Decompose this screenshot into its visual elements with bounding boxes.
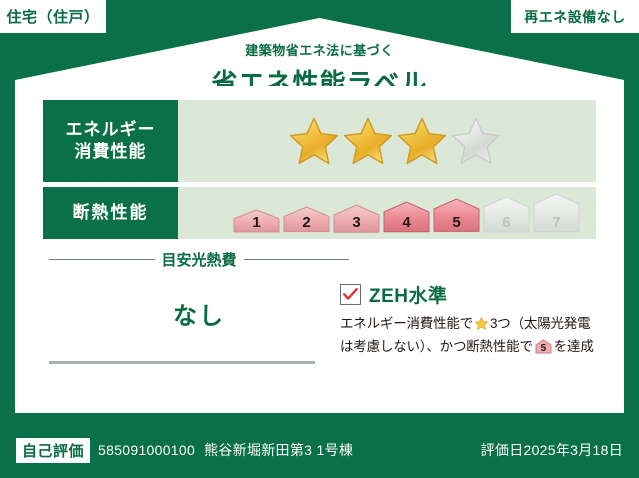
zeh-title: ZEH水準 [369,281,448,308]
building-name: 熊谷新堀新田第3 1号棟 [204,440,353,460]
insulation-level-5: 5 [433,198,480,232]
heading-rule-left [49,259,155,260]
utility-cost-heading-text: 目安光熱費 [162,249,237,270]
insulation-level-4: 4 [383,201,430,233]
insulation-label-text: 断熱性能 [73,202,149,224]
insulation-level-scale: 1234567 [233,193,580,233]
star-filled-icon [288,115,340,167]
zeh-desc-part-3: を達成 [554,339,594,354]
utility-cost-bottom-rule [49,361,315,364]
inline-insulation-badge-number: 5 [535,344,552,354]
insulation-level-number: 6 [483,215,530,230]
checkbox-checked-icon [340,284,361,305]
insulation-performance-label-box: 断熱性能 [43,187,178,239]
zeh-desc-part-2: は考慮しない）、かつ断熱性能で [340,339,533,354]
zeh-heading: ZEH水準 [340,281,605,308]
energy-performance-row: エネルギー 消費性能 [43,100,596,182]
building-type-tag-text: 住宅（住戸） [6,6,99,27]
insulation-level-3: 3 [333,204,380,233]
inline-star-icon [474,316,489,337]
energy-label-line-1: エネルギー [66,119,156,141]
star-rating [288,115,502,167]
insulation-level-number: 1 [233,215,280,230]
insulation-level-number: 2 [283,215,330,230]
renewable-equipment-tag: 再エネ設備なし [511,0,639,33]
energy-performance-label-box: エネルギー 消費性能 [43,100,178,182]
insulation-level-2: 2 [283,206,330,233]
evaluation-date: 評価日2025年3月18日 [481,440,623,460]
insulation-level-6: 6 [483,196,530,233]
heading-rule-right [244,259,350,260]
renewable-equipment-tag-text: 再エネ設備なし [524,7,626,27]
insulation-level-number: 7 [533,215,580,230]
zeh-standard-block: ZEH水準 エネルギー消費性能で 3つ（太陽光発電 は考慮しない）、かつ断熱性能… [340,281,605,358]
evaluation-id: 585091000100 [98,442,195,458]
insulation-level-7: 7 [533,193,580,233]
star-filled-icon [342,115,394,167]
building-type-tag: 住宅（住戸） [0,0,106,33]
insulation-level-1: 1 [233,209,280,233]
self-evaluation-badge: 自己評価 [16,438,90,463]
label-card: エネルギー 消費性能 断熱性能 1234567 目安光熱費 なし [29,86,610,397]
insulation-level-number: 5 [433,215,480,230]
star-empty-icon [450,115,502,167]
insulation-level-number: 3 [333,215,380,230]
zeh-desc-star-count: 3つ（太陽光発電 [490,316,590,331]
zeh-desc-part-1: エネルギー消費性能で [340,316,473,331]
insulation-performance-row: 断熱性能 1234567 [43,187,596,239]
star-filled-icon [396,115,448,167]
utility-cost-value: なし [49,296,349,331]
label-footer: 自己評価 585091000100 熊谷新堀新田第3 1号棟 評価日2025年3… [0,422,639,478]
energy-label-line-2: 消費性能 [75,141,147,163]
energy-performance-label: 住宅（住戸） 再エネ設備なし 建築物省エネ法に基づく 省エネ性能ラベル エネルギ… [0,0,639,478]
zeh-description: エネルギー消費性能で 3つ（太陽光発電 は考慮しない）、かつ断熱性能で 5 を達… [340,314,605,358]
insulation-level-number: 4 [383,215,430,230]
inline-insulation-badge: 5 [535,339,552,354]
label-subtitle: 建築物省エネ法に基づく [15,40,624,59]
insulation-performance-value: 1234567 [178,187,596,239]
utility-cost-block: 目安光熱費 なし [49,249,349,331]
utility-cost-heading: 目安光熱費 [49,249,349,270]
energy-performance-value [178,100,596,182]
